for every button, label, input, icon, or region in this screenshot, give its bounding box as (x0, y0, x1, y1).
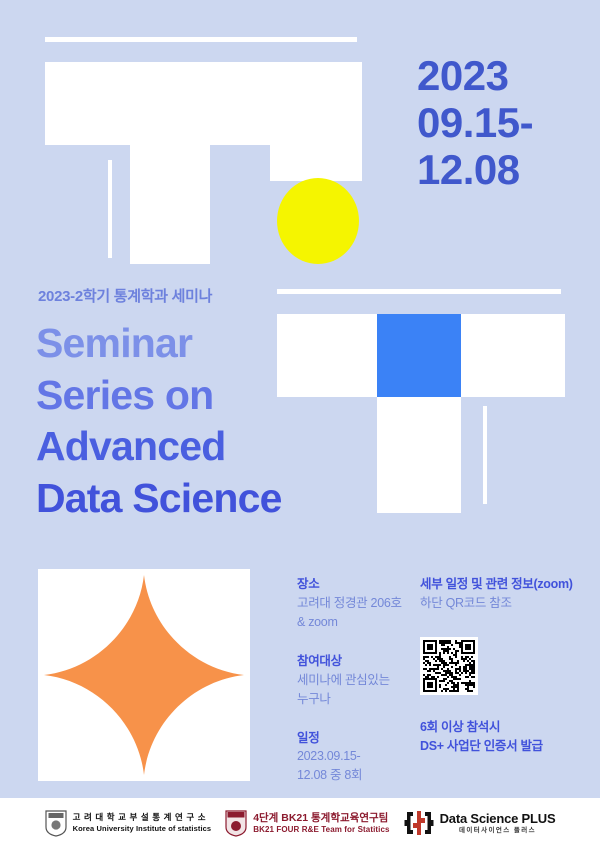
seminar-poster: 2023 09.15- 12.08 2023-2학기 통계학과 세미나 Semi… (0, 0, 600, 848)
date-range-block: 2023 09.15- 12.08 (417, 52, 587, 193)
page-subtitle: 2023-2학기 통계학과 세미나 (38, 285, 212, 306)
certificate-note: 6회 이상 참석시 DS+ 사업단 인증서 발급 (420, 718, 595, 756)
info-body-venue-line2: & zoom (297, 613, 412, 632)
info-heading-audience: 참여대상 (297, 652, 412, 671)
info-body-details: 하단 QR코드 참조 (420, 594, 590, 613)
date-year: 2023 (417, 52, 587, 99)
certificate-note-line1: 6회 이상 참석시 (420, 718, 595, 737)
info-group-schedule: 일정 2023.09.15- 12.08 중 8회 (297, 729, 412, 786)
page-title: Seminar Series on Advanced Data Science (36, 318, 366, 525)
dsplus-logo-title: Data Science PLUS (440, 810, 556, 828)
ds-plus-mark-icon (404, 810, 434, 836)
mid-t-stem (377, 397, 461, 513)
info-heading-schedule: 일정 (297, 729, 412, 748)
university-crest-icon (45, 810, 67, 837)
yellow-circle-decoration (277, 178, 359, 264)
logo-bk21-four: 4단계 BK21 통계학교육연구팀 BK21 FOUR R&E Team for… (225, 810, 389, 837)
title-line-1: Seminar (36, 318, 366, 370)
dsplus-logo-korean: 데이터사이언스 플러스 (440, 827, 556, 836)
four-point-star-icon (38, 569, 250, 781)
bk21-logo-english: BK21 FOUR R&E Team for Statitics (253, 825, 389, 836)
mid-thin-rule (277, 289, 561, 294)
mid-vertical-thin-rule (483, 406, 487, 504)
info-body-schedule-line1: 2023.09.15- (297, 747, 412, 766)
title-line-3: Advanced (36, 421, 366, 473)
info-column-left: 장소 고려대 정경관 206호 & zoom 참여대상 세미나에 관심있는 누구… (297, 575, 412, 805)
qr-code-canvas[interactable] (423, 640, 475, 692)
logo-korea-university-institute: 고 려 대 학 교 부 설 통 계 연 구 소 Korea University… (45, 810, 212, 837)
footer-logo-strip: 고 려 대 학 교 부 설 통 계 연 구 소 Korea University… (0, 798, 600, 848)
top-t-crossbar (45, 62, 362, 145)
date-end: 12.08 (417, 146, 587, 193)
bk21-logo-korean: 4단계 BK21 통계학교육연구팀 (253, 811, 389, 825)
mid-t-crossbar-right (461, 314, 565, 397)
info-body-audience-line1: 세미나에 관심있는 (297, 671, 412, 690)
bk21-crest-icon (225, 810, 247, 837)
certificate-note-line2: DS+ 사업단 인증서 발급 (420, 737, 595, 756)
ku-logo-english: Korea University Institute of statistics (73, 824, 212, 834)
info-column-right: 세부 일정 및 관련 정보(zoom) 하단 QR코드 참조 (420, 575, 590, 613)
info-body-schedule-line2: 12.08 중 8회 (297, 766, 412, 785)
ku-logo-korean: 고 려 대 학 교 부 설 통 계 연 구 소 (73, 812, 212, 823)
info-heading-venue: 장소 (297, 575, 412, 594)
info-body-audience-line2: 누구나 (297, 690, 412, 709)
top-t-right-arm (270, 145, 362, 181)
title-line-4: Data Science (36, 473, 366, 525)
top-thin-rule (45, 37, 357, 42)
star-tile (38, 569, 250, 781)
qr-code[interactable] (420, 637, 478, 695)
date-start: 09.15- (417, 99, 587, 146)
blue-square-decoration (377, 314, 461, 397)
top-vertical-thin-rule (108, 160, 112, 258)
info-body-venue-line1: 고려대 정경관 206호 (297, 594, 412, 613)
title-line-2: Series on (36, 370, 366, 422)
logo-data-science-plus: Data Science PLUS 데이터사이언스 플러스 (404, 810, 556, 836)
info-heading-details: 세부 일정 및 관련 정보(zoom) (420, 575, 590, 594)
info-group-audience: 참여대상 세미나에 관심있는 누구나 (297, 652, 412, 709)
top-t-stem (130, 145, 210, 264)
info-group-venue: 장소 고려대 정경관 206호 & zoom (297, 575, 412, 632)
